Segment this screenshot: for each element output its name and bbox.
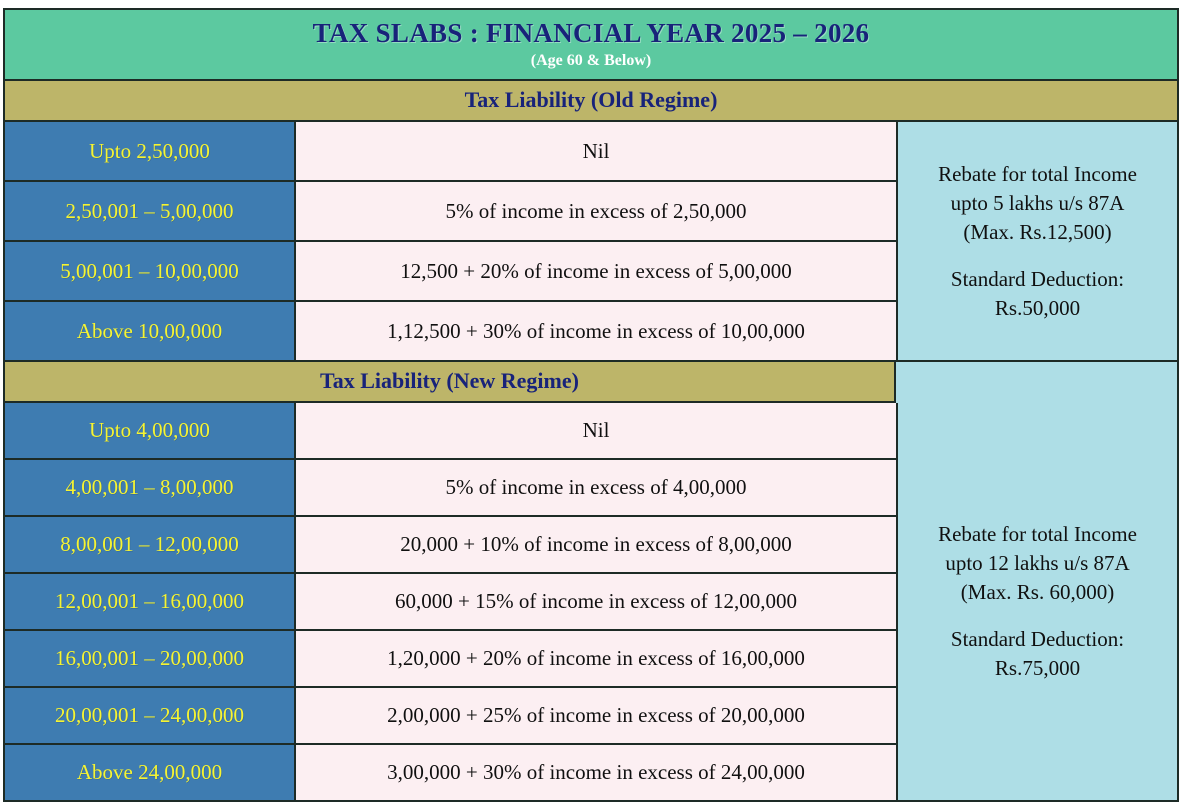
old-regime-rows: Upto 2,50,000 Nil 2,50,001 – 5,00,000 5%…: [5, 122, 896, 360]
slab-range: 8,00,001 – 12,00,000: [5, 517, 296, 572]
title-band: TAX SLABS : FINANCIAL YEAR 2025 – 2026 (…: [5, 10, 1177, 81]
table-row: Above 10,00,000 1,12,500 + 30% of income…: [5, 302, 896, 360]
rebate-line: (Max. Rs. 60,000): [961, 578, 1114, 607]
rebate-line: upto 5 lakhs u/s 87A: [951, 189, 1125, 218]
old-regime-heading: Tax Liability (Old Regime): [5, 81, 1177, 122]
new-regime-heading-section: Tax Liability (New Regime): [5, 360, 1177, 403]
table-row: 8,00,001 – 12,00,000 20,000 + 10% of inc…: [5, 517, 896, 574]
table-row: Upto 4,00,000 Nil: [5, 403, 896, 460]
slab-range: Upto 4,00,000: [5, 403, 296, 458]
table-row: Above 24,00,000 3,00,000 + 30% of income…: [5, 745, 896, 800]
slab-range: 4,00,001 – 8,00,000: [5, 460, 296, 515]
slab-range: Above 10,00,000: [5, 302, 296, 360]
standard-deduction-value: Rs.50,000: [995, 294, 1080, 323]
table-row: 2,50,001 – 5,00,000 5% of income in exce…: [5, 182, 896, 242]
slab-range: 20,00,001 – 24,00,000: [5, 688, 296, 743]
standard-deduction-label: Standard Deduction:: [951, 265, 1124, 294]
slab-range: 16,00,001 – 20,00,000: [5, 631, 296, 686]
slab-range: Upto 2,50,000: [5, 122, 296, 180]
slab-liability: 1,12,500 + 30% of income in excess of 10…: [296, 302, 896, 360]
standard-deduction-label: Standard Deduction:: [951, 625, 1124, 654]
page-title: TAX SLABS : FINANCIAL YEAR 2025 – 2026: [5, 16, 1177, 50]
tax-slabs-table: TAX SLABS : FINANCIAL YEAR 2025 – 2026 (…: [3, 8, 1179, 802]
slab-liability: 5% of income in excess of 2,50,000: [296, 182, 896, 240]
slab-range: 12,00,001 – 16,00,000: [5, 574, 296, 629]
new-regime-rebate-note: Rebate for total Income upto 12 lakhs u/…: [896, 403, 1177, 800]
table-row: 12,00,001 – 16,00,000 60,000 + 15% of in…: [5, 574, 896, 631]
new-regime-rows: Upto 4,00,000 Nil 4,00,001 – 8,00,000 5%…: [5, 403, 896, 800]
table-row: 5,00,001 – 10,00,000 12,500 + 20% of inc…: [5, 242, 896, 302]
table-row: 4,00,001 – 8,00,000 5% of income in exce…: [5, 460, 896, 517]
table-row: 16,00,001 – 20,00,000 1,20,000 + 20% of …: [5, 631, 896, 688]
slab-liability: Nil: [296, 122, 896, 180]
slab-range: 2,50,001 – 5,00,000: [5, 182, 296, 240]
rebate-line: Rebate for total Income: [938, 520, 1137, 549]
standard-deduction-value: Rs.75,000: [995, 654, 1080, 683]
slab-range: Above 24,00,000: [5, 745, 296, 800]
slab-liability: Nil: [296, 403, 896, 458]
rebate-line: Rebate for total Income: [938, 160, 1137, 189]
slab-liability: 12,500 + 20% of income in excess of 5,00…: [296, 242, 896, 300]
slab-liability: 1,20,000 + 20% of income in excess of 16…: [296, 631, 896, 686]
table-row: Upto 2,50,000 Nil: [5, 122, 896, 182]
slab-liability: 20,000 + 10% of income in excess of 8,00…: [296, 517, 896, 572]
slab-liability: 2,00,000 + 25% of income in excess of 20…: [296, 688, 896, 743]
old-regime-section: Upto 2,50,000 Nil 2,50,001 – 5,00,000 5%…: [5, 122, 1177, 360]
page-subtitle: (Age 60 & Below): [5, 50, 1177, 71]
slab-liability: 5% of income in excess of 4,00,000: [296, 460, 896, 515]
new-regime-heading: Tax Liability (New Regime): [5, 360, 896, 403]
old-regime-rebate-note: Rebate for total Income upto 5 lakhs u/s…: [896, 122, 1177, 360]
rebate-line: upto 12 lakhs u/s 87A: [945, 549, 1129, 578]
rebate-line: (Max. Rs.12,500): [963, 218, 1111, 247]
slab-liability: 3,00,000 + 30% of income in excess of 24…: [296, 745, 896, 800]
rebate-column-spacer: [896, 360, 1177, 403]
slab-range: 5,00,001 – 10,00,000: [5, 242, 296, 300]
table-row: 20,00,001 – 24,00,000 2,00,000 + 25% of …: [5, 688, 896, 745]
slab-liability: 60,000 + 15% of income in excess of 12,0…: [296, 574, 896, 629]
new-regime-section: Upto 4,00,000 Nil 4,00,001 – 8,00,000 5%…: [5, 403, 1177, 800]
